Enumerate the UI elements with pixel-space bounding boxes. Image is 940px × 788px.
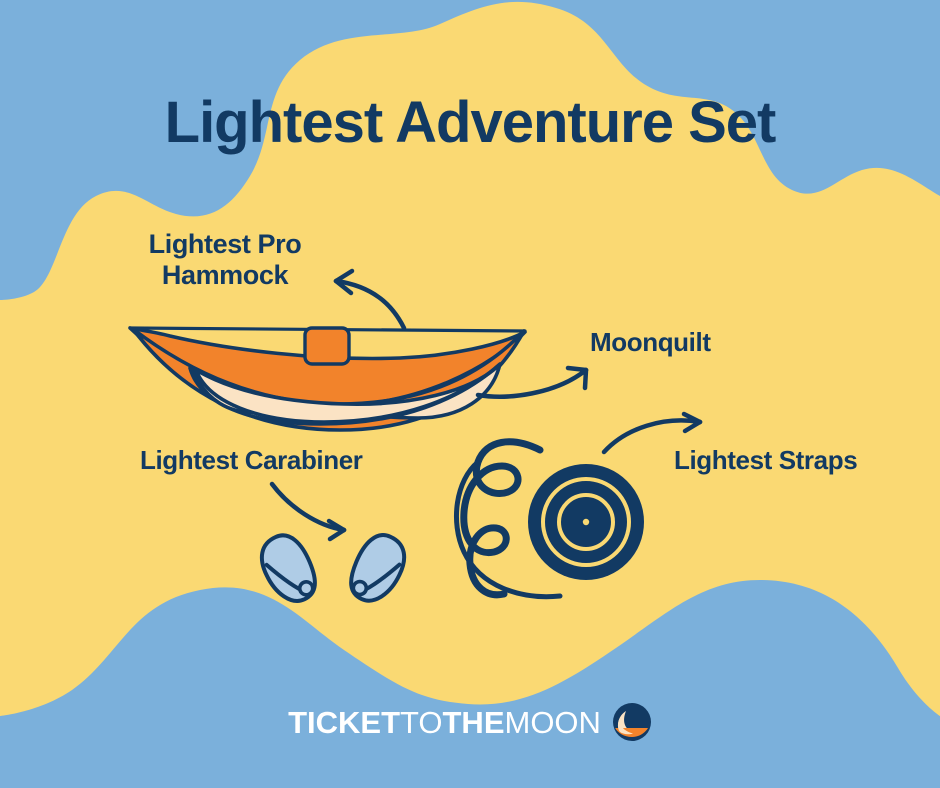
brand-word-to: TO xyxy=(400,707,443,738)
brand-word-the: THE xyxy=(443,707,505,738)
brand-word-ticket: TICKET xyxy=(288,707,400,738)
label-lightest-carabiner: Lightest Carabiner xyxy=(140,446,363,476)
moon-crescent-icon xyxy=(612,702,652,742)
label-lightest-pro-hammock: Lightest Pro Hammock xyxy=(100,229,350,291)
brand-word-moon: MOON xyxy=(505,707,601,738)
label-lightest-straps: Lightest Straps xyxy=(674,446,857,476)
page-title: Lightest Adventure Set xyxy=(140,86,800,160)
poster-canvas: Lightest Adventure Set xyxy=(0,0,940,788)
brand-logo: TICKET TO THE MOON xyxy=(0,702,940,742)
label-moonquilt: Moonquilt xyxy=(590,328,711,358)
